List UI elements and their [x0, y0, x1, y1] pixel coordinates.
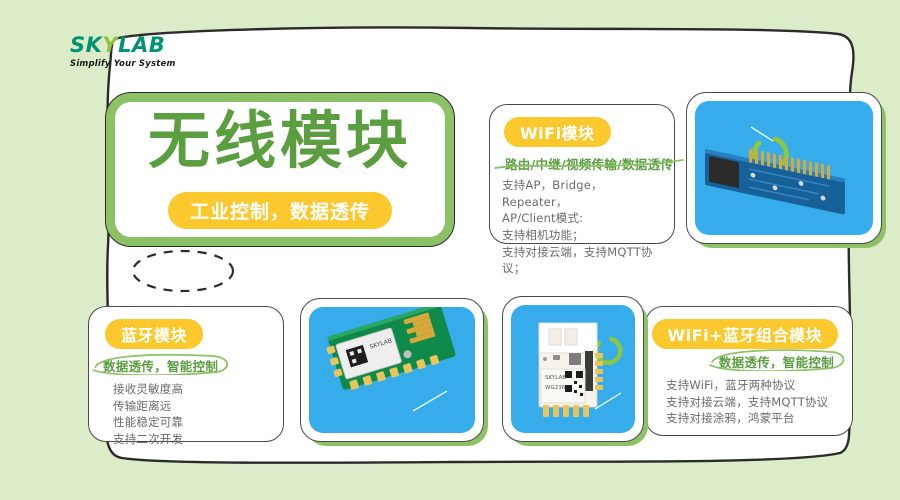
combo-board-illustration: SKYLAB WG236 — [511, 305, 635, 433]
product-photo-bluetooth: SKYLAB — [300, 298, 484, 442]
hero-subtitle-pill: 工业控制，数据透传 — [168, 192, 392, 229]
brand-tagline: Simplify Your System — [70, 59, 210, 69]
photo-image-bluetooth: SKYLAB — [309, 307, 475, 433]
panel-wifi-module: WiFi模块 路由/中继/视频传输/数据透传 支持AP，Bridge，Repea… — [489, 104, 675, 244]
bluetooth-board-illustration: SKYLAB — [309, 307, 475, 433]
panel-wifi-body: 支持AP，Bridge，Repeater， AP/Client模式: 支持相机功… — [502, 177, 666, 277]
panel-wifi-subtitle: 路由/中继/视频传输/数据透传 — [499, 153, 679, 174]
panel-combo-body: 支持WiFi，蓝牙两种协议 支持对接云端，支持MQTT协议 支持对接涂鸦，鸿蒙平… — [666, 377, 844, 427]
poster-canvas: SKYLAB Simplify Your System 无线模块 工业控制，数据… — [0, 0, 900, 500]
photo-image-wifi — [695, 101, 873, 235]
panel-combo-subtitle: 数据透传，智能控制 — [713, 351, 840, 372]
svg-text:WG236: WG236 — [545, 385, 566, 391]
panel-bluetooth-module: 蓝牙模块 数据透传，智能控制 接收灵敏度高 传输距离远 性能稳定可靠 支持二次开… — [88, 306, 284, 442]
brand-logo: SKYLAB Simplify Your System — [70, 35, 210, 69]
hero-title-card: 无线模块 工业控制，数据透传 — [105, 92, 455, 247]
panel-combo-module: WiFi+蓝牙组合模块 数据透传，智能控制 支持WiFi，蓝牙两种协议 支持对接… — [645, 306, 853, 436]
photo-image-combo: SKYLAB WG236 — [511, 305, 635, 433]
panel-combo-badge: WiFi+蓝牙组合模块 — [652, 319, 838, 349]
brand-logo-wordmark: SKYLAB — [70, 35, 210, 56]
product-photo-wifi — [686, 92, 882, 244]
svg-text:SKYLAB: SKYLAB — [545, 375, 566, 381]
panel-bluetooth-body: 接收灵敏度高 传输距离远 性能稳定可靠 支持二次开发 — [113, 381, 275, 448]
dashed-ellipse-decoration — [128, 248, 238, 294]
page-title: 无线模块 — [107, 108, 453, 173]
product-photo-combo: SKYLAB WG236 — [502, 296, 644, 442]
panel-bluetooth-subtitle: 数据透传，智能控制 — [97, 355, 224, 376]
wifi-board-illustration — [695, 101, 873, 235]
panel-wifi-badge: WiFi模块 — [504, 117, 611, 147]
panel-bluetooth-badge: 蓝牙模块 — [105, 319, 203, 349]
